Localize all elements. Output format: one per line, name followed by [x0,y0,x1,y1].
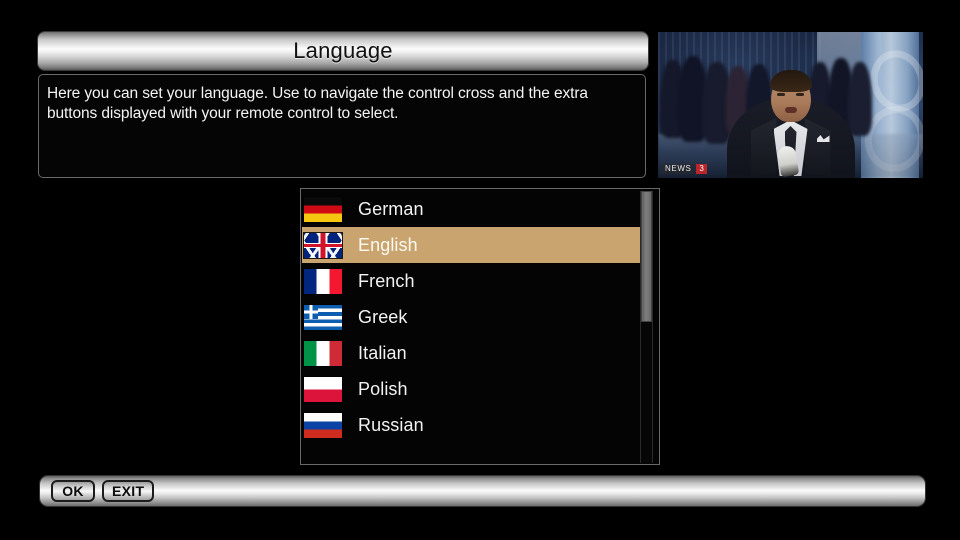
language-label: Greek [358,307,408,328]
flag-icon-french [304,269,342,294]
flag-icon-greek [304,305,342,330]
language-row-english[interactable]: English [302,227,642,263]
language-row-french[interactable]: French [302,263,642,299]
help-text-box: Here you can set your language. Use to n… [38,74,646,178]
language-list[interactable]: GermanEnglishFrenchGreekItalianPolishRus… [302,191,642,443]
flag-icon-english [304,233,342,258]
broadcaster-logo-badge: 3 [696,164,706,174]
flag-icon-german [304,197,342,222]
language-label: French [358,271,415,292]
list-scrollbar-thumb[interactable] [641,191,652,322]
footer-button-bar: OK EXIT [40,476,925,506]
language-row-german[interactable]: German [302,191,642,227]
language-label: English [358,235,418,256]
help-text: Here you can set your language. Use to n… [47,84,635,125]
reporter-eye-left [777,93,785,96]
language-list-panel[interactable]: GermanEnglishFrenchGreekItalianPolishRus… [300,188,660,465]
video-crowd-figure [848,62,872,136]
language-row-greek[interactable]: Greek [302,299,642,335]
list-scrollbar-track[interactable] [640,191,653,463]
language-label: Italian [358,343,407,364]
language-label: German [358,199,424,220]
window-title-bar: Language [38,32,648,70]
ok-button[interactable]: OK [51,480,95,502]
reporter-mouth [785,107,797,113]
flag-icon-russian [304,413,342,438]
page-title: Language [293,38,392,64]
video-preview[interactable]: NEWS 3 [658,32,923,178]
language-label: Russian [358,415,424,436]
language-row-italian[interactable]: Italian [302,335,642,371]
language-row-polish[interactable]: Polish [302,371,642,407]
reporter-eye-right [796,93,804,96]
reporter-hair [770,70,812,92]
broadcaster-logo-text: NEWS [662,164,694,174]
flag-icon-polish [304,377,342,402]
exit-button[interactable]: EXIT [102,480,154,502]
osd-screen: Language Here you can set your language.… [0,0,960,540]
language-label: Polish [358,379,408,400]
flag-icon-italian [304,341,342,366]
language-row-russian[interactable]: Russian [302,407,642,443]
broadcaster-logo: NEWS 3 [662,163,707,174]
